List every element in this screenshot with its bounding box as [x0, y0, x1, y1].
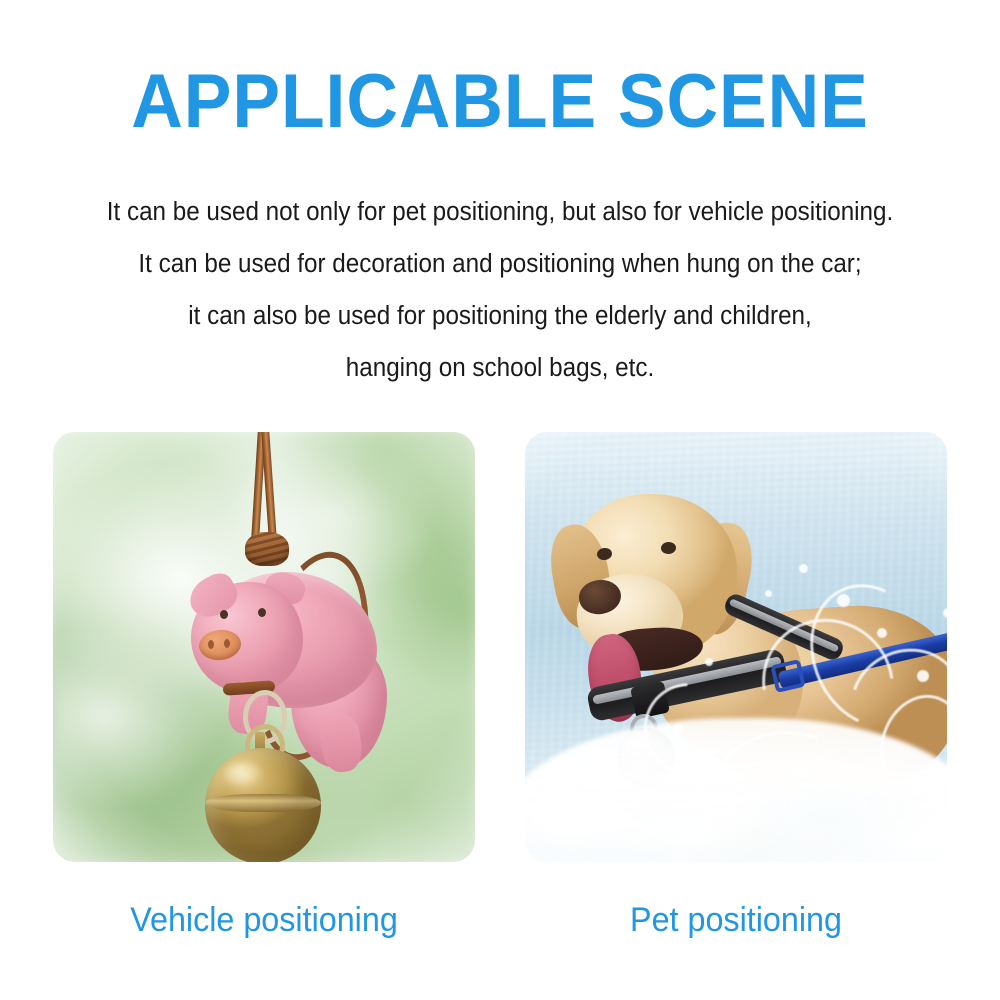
- water-foam: [525, 776, 947, 862]
- water-droplet: [799, 564, 808, 573]
- description-line-3: it can also be used for positioning the …: [25, 290, 975, 342]
- description-line-4: hanging on school bags, etc.: [25, 342, 975, 394]
- water-droplet: [877, 628, 887, 638]
- water-droplet: [765, 590, 772, 597]
- pet-positioning-photo-card: [525, 432, 947, 862]
- water-droplet: [837, 594, 850, 607]
- dog-swimming-photo: [525, 432, 947, 862]
- water-droplet: [917, 670, 929, 682]
- description-block: It can be used not only for pet position…: [25, 186, 975, 394]
- description-line-1: It can be used not only for pet position…: [25, 186, 975, 238]
- water-droplet: [943, 608, 947, 618]
- vehicle-positioning-photo-card: [53, 432, 475, 862]
- caption-vehicle-positioning: Vehicle positioning: [64, 898, 465, 942]
- caption-pet-positioning: Pet positioning: [536, 898, 937, 942]
- page-title: APPLICABLE SCENE: [30, 64, 970, 140]
- photo-edge-fade: [53, 432, 475, 862]
- pig-bell-charm-photo: [53, 432, 475, 862]
- applicable-scene-page: APPLICABLE SCENE It can be used not only…: [0, 0, 1000, 1000]
- description-line-2: It can be used for decoration and positi…: [25, 238, 975, 290]
- water-droplet: [705, 658, 713, 666]
